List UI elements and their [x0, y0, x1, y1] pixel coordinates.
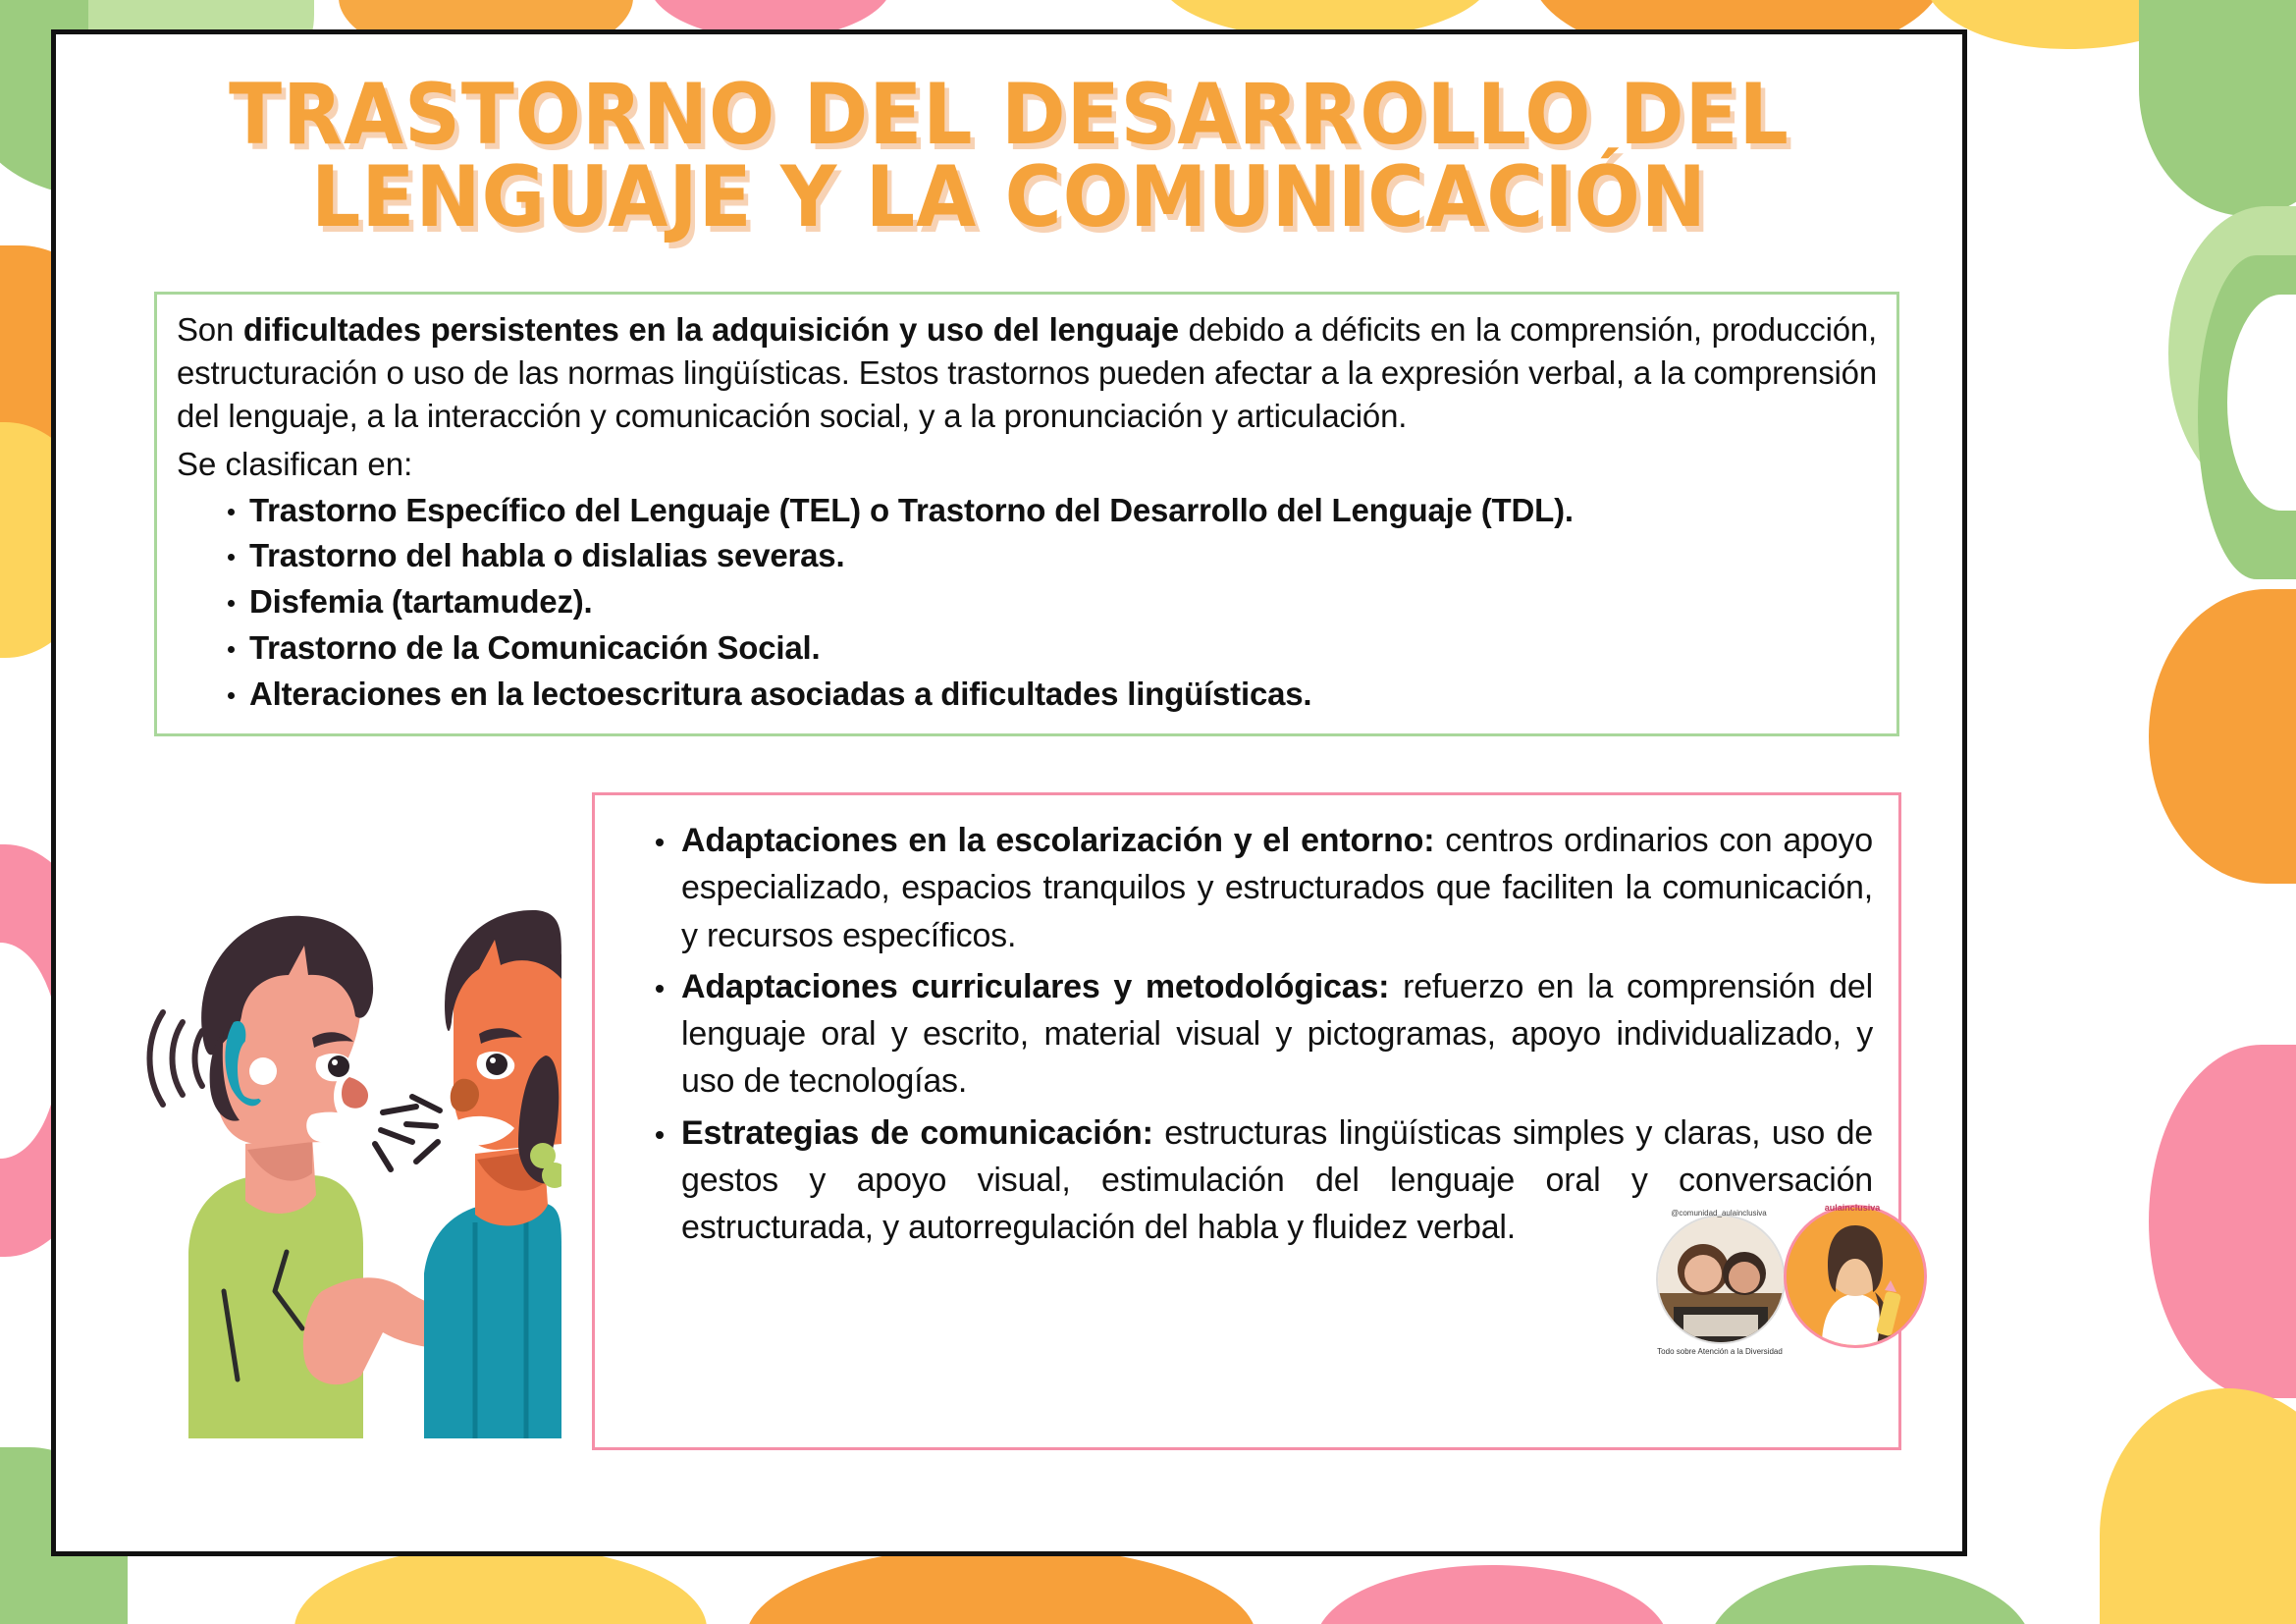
definition-bold-phrase: dificultades persistentes en la adquisic… [243, 311, 1179, 348]
deco-blob-pink-right [2149, 1045, 2296, 1398]
list-item: Adaptaciones en la escolarización y el e… [656, 817, 1873, 959]
definition-text-start: Son [177, 311, 243, 348]
deco-blob-yellow-bottom [294, 1545, 707, 1624]
definition-box: Son dificultades persistentes en la adqu… [154, 292, 1899, 736]
deco-blob-green-top-right [2139, 0, 2296, 216]
avatar-badge-left [1656, 1215, 1786, 1344]
avatar-badge-left-handle: @comunidad_aulainclusiva [1654, 1209, 1784, 1218]
avatar-badge-right-handle: aulainclusiva [1786, 1203, 1919, 1213]
adaptations-list: Adaptaciones en la escolarización y el e… [620, 817, 1873, 1251]
list-item: Disfemia (tartamudez). [228, 579, 1877, 625]
classification-intro: Se clasifican en: [177, 444, 1877, 486]
list-item: Trastorno del habla o dislalias severas. [228, 533, 1877, 579]
deco-blob-orange-right [2149, 589, 2296, 884]
boy-nose [342, 1077, 368, 1109]
avatar-badge-left-caption: Todo sobre Atención a la Diversidad [1641, 1348, 1798, 1357]
list-item: Adaptaciones curriculares y metodológica… [656, 963, 1873, 1106]
adaptation-lead: Estrategias de comunicación: [681, 1114, 1153, 1152]
list-item: Alteraciones en la lectoescritura asocia… [228, 672, 1877, 718]
sound-wave-left-icon [150, 1012, 203, 1105]
speech-lines-boy-icon [375, 1107, 416, 1169]
adaptation-lead: Adaptaciones en la escolarización y el e… [681, 822, 1434, 859]
children-talking-illustration [130, 830, 561, 1438]
avatar-badge-right [1784, 1205, 1927, 1348]
girl-shirt [424, 1203, 561, 1438]
adaptation-lead: Adaptaciones curriculares y metodológica… [681, 968, 1389, 1005]
boy-mouth [306, 1112, 371, 1144]
list-item: Trastorno Específico del Lenguaje (TEL) … [228, 488, 1877, 534]
list-item: Trastorno de la Comunicación Social. [228, 625, 1877, 672]
title-line-2: LENGUAJE Y LA COMUNICACIÓN [195, 156, 1823, 239]
deco-blob-green-bottom [1708, 1565, 2032, 1624]
deco-blob-pink-bottom [1315, 1565, 1669, 1624]
page-title: TRASTORNO DEL DESARROLLO DEL LENGUAJE Y … [195, 74, 1823, 240]
definition-paragraph: Son dificultades persistentes en la adqu… [177, 308, 1877, 438]
classification-list: Trastorno Específico del Lenguaje (TEL) … [177, 488, 1877, 718]
poster-card: TRASTORNO DEL DESARROLLO DEL LENGUAJE Y … [51, 29, 1967, 1556]
deco-blob-yellow-bottom-right [2100, 1388, 2296, 1624]
deco-blob-orange-bottom [746, 1545, 1256, 1624]
